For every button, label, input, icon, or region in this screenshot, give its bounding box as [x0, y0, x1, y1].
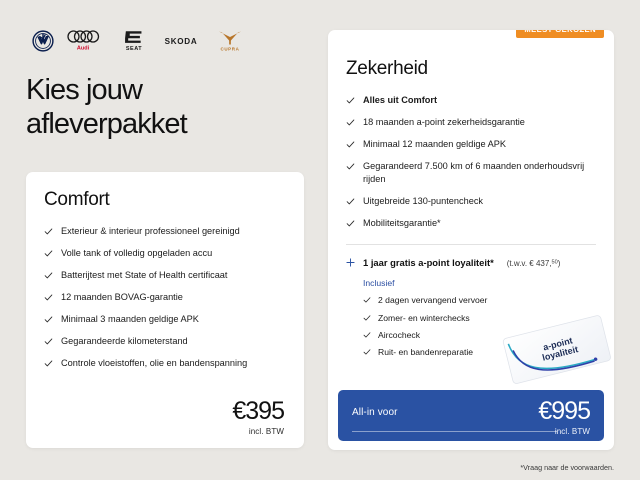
check-icon — [44, 227, 53, 236]
list-item-label: Volle tank of volledig opgeladen accu — [61, 247, 286, 260]
loyalty-addon-label: 1 jaar gratis a-point loyaliteit* — [363, 257, 494, 268]
list-item-label: Batterijtest met State of Health certifi… — [61, 269, 286, 282]
cupra-logo: CUPRA — [214, 28, 246, 52]
list-item: Gegarandeerde kilometerstand — [44, 335, 286, 348]
list-item-label: Minimaal 12 maanden geldige APK — [363, 138, 596, 151]
comfort-package-card[interactable]: Comfort Exterieur & interieur profession… — [26, 172, 304, 448]
check-icon — [346, 219, 355, 228]
list-item: Minimaal 3 maanden geldige APK — [44, 313, 286, 326]
list-item: Volle tank of volledig opgeladen accu — [44, 247, 286, 260]
loyalty-addon-value: (t.w.v. € 437,50) — [507, 259, 561, 268]
loyalty-addon-row: 1 jaar gratis a-point loyaliteit* (t.w.v… — [346, 257, 596, 268]
list-item: Aircocheck — [363, 330, 596, 341]
list-item-label: Minimaal 3 maanden geldige APK — [61, 313, 286, 326]
list-item-label: Alles uit Comfort — [363, 94, 596, 107]
list-item: Controle vloeistoffen, olie en bandenspa… — [44, 357, 286, 370]
allin-price-bar[interactable]: All-in voor €995 incl. BTW — [338, 390, 604, 441]
inclusief-block: Inclusief 2 dagen vervangend vervoer Zom… — [363, 278, 596, 358]
list-item-label: Gegarandeerde kilometerstand — [61, 335, 286, 348]
check-icon — [346, 162, 355, 171]
list-item-label: Controle vloeistoffen, olie en bandenspa… — [61, 357, 286, 370]
volkswagen-logo — [32, 30, 54, 52]
svg-text:SKODA: SKODA — [165, 37, 198, 46]
check-icon — [44, 359, 53, 368]
svg-text:CUPRA: CUPRA — [220, 47, 239, 52]
check-icon — [363, 296, 371, 304]
list-item-label: Mobiliteitsgarantie* — [363, 217, 596, 230]
list-item-label: Uitgebreide 130-puntencheck — [363, 195, 596, 208]
status-badge: MEEST GEKOZEN — [516, 30, 604, 38]
check-icon — [44, 315, 53, 324]
list-item: Gegarandeerd 7.500 km of 6 maanden onder… — [346, 160, 596, 186]
list-item-label: Zomer- en winterchecks — [378, 313, 470, 324]
check-icon — [44, 271, 53, 280]
allin-label: All-in voor — [352, 407, 398, 418]
list-item: Mobiliteitsgarantie* — [346, 217, 596, 230]
check-icon — [346, 140, 355, 149]
check-icon — [363, 348, 371, 356]
check-icon — [44, 293, 53, 302]
inclusief-label: Inclusief — [363, 278, 596, 288]
divider — [352, 431, 557, 432]
list-item-label: Ruit- en bandenreparatie — [378, 347, 473, 358]
loyalty-value-suffix: ) — [558, 259, 561, 268]
comfort-title: Comfort — [44, 189, 286, 211]
list-item: Exterieur & interieur professioneel gere… — [44, 225, 286, 238]
zekerheid-title: Zekerheid — [346, 58, 596, 80]
plus-icon — [346, 258, 355, 267]
list-item: Uitgebreide 130-puntencheck — [346, 195, 596, 208]
list-item-label: 2 dagen vervangend vervoer — [378, 295, 487, 306]
footnote-text: *Vraag naar de voorwaarden. — [520, 463, 614, 472]
allin-price-value: €995 — [538, 399, 590, 424]
list-item: Minimaal 12 maanden geldige APK — [346, 138, 596, 151]
audi-logo: Audi — [67, 28, 107, 52]
zekerheid-content: MEEST GEKOZEN Zekerheid Alles uit Comfor… — [328, 30, 614, 358]
skoda-logo: SKODA — [161, 30, 201, 52]
brand-logo-strip: Audi SEAT SKODA CUPRA — [26, 26, 296, 52]
comfort-price-block: €395 incl. BTW — [44, 399, 286, 436]
check-icon — [363, 331, 371, 339]
inclusief-list: 2 dagen vervangend vervoer Zomer- en win… — [363, 295, 596, 358]
list-item-label: Exterieur & interieur professioneel gere… — [61, 225, 286, 238]
list-item-label: 18 maanden a-point zekerheidsgarantie — [363, 116, 596, 129]
zekerheid-feature-list: Alles uit Comfort 18 maanden a-point zek… — [346, 94, 596, 230]
list-item: 18 maanden a-point zekerheidsgarantie — [346, 116, 596, 129]
svg-text:Audi: Audi — [77, 46, 90, 52]
comfort-price-value: €395 — [44, 399, 284, 424]
list-item: Ruit- en bandenreparatie — [363, 347, 596, 358]
list-item: Alles uit Comfort — [346, 94, 596, 107]
check-icon — [346, 118, 355, 127]
page-title: Kies jouw afleverpakket — [26, 74, 296, 141]
list-item: 12 maanden BOVAG-garantie — [44, 291, 286, 304]
list-item-label: Aircocheck — [378, 330, 420, 341]
comfort-feature-list: Exterieur & interieur professioneel gere… — [44, 225, 286, 370]
list-item-label: Gegarandeerd 7.500 km of 6 maanden onder… — [363, 160, 596, 186]
comfort-price-note: incl. BTW — [44, 427, 284, 436]
loyalty-value-prefix: (t.w.v. € 437, — [507, 259, 552, 268]
svg-text:SEAT: SEAT — [126, 46, 142, 52]
list-item: 2 dagen vervangend vervoer — [363, 295, 596, 306]
divider — [346, 244, 596, 245]
list-item: Batterijtest met State of Health certifi… — [44, 269, 286, 282]
check-icon — [44, 249, 53, 258]
check-icon — [346, 197, 355, 206]
zekerheid-package-card[interactable]: MEEST GEKOZEN Zekerheid Alles uit Comfor… — [328, 30, 614, 450]
check-icon — [363, 314, 371, 322]
list-item: Zomer- en winterchecks — [363, 313, 596, 324]
seat-logo: SEAT — [120, 28, 148, 52]
check-icon — [44, 337, 53, 346]
list-item-label: 12 maanden BOVAG-garantie — [61, 291, 286, 304]
check-icon — [346, 96, 355, 105]
